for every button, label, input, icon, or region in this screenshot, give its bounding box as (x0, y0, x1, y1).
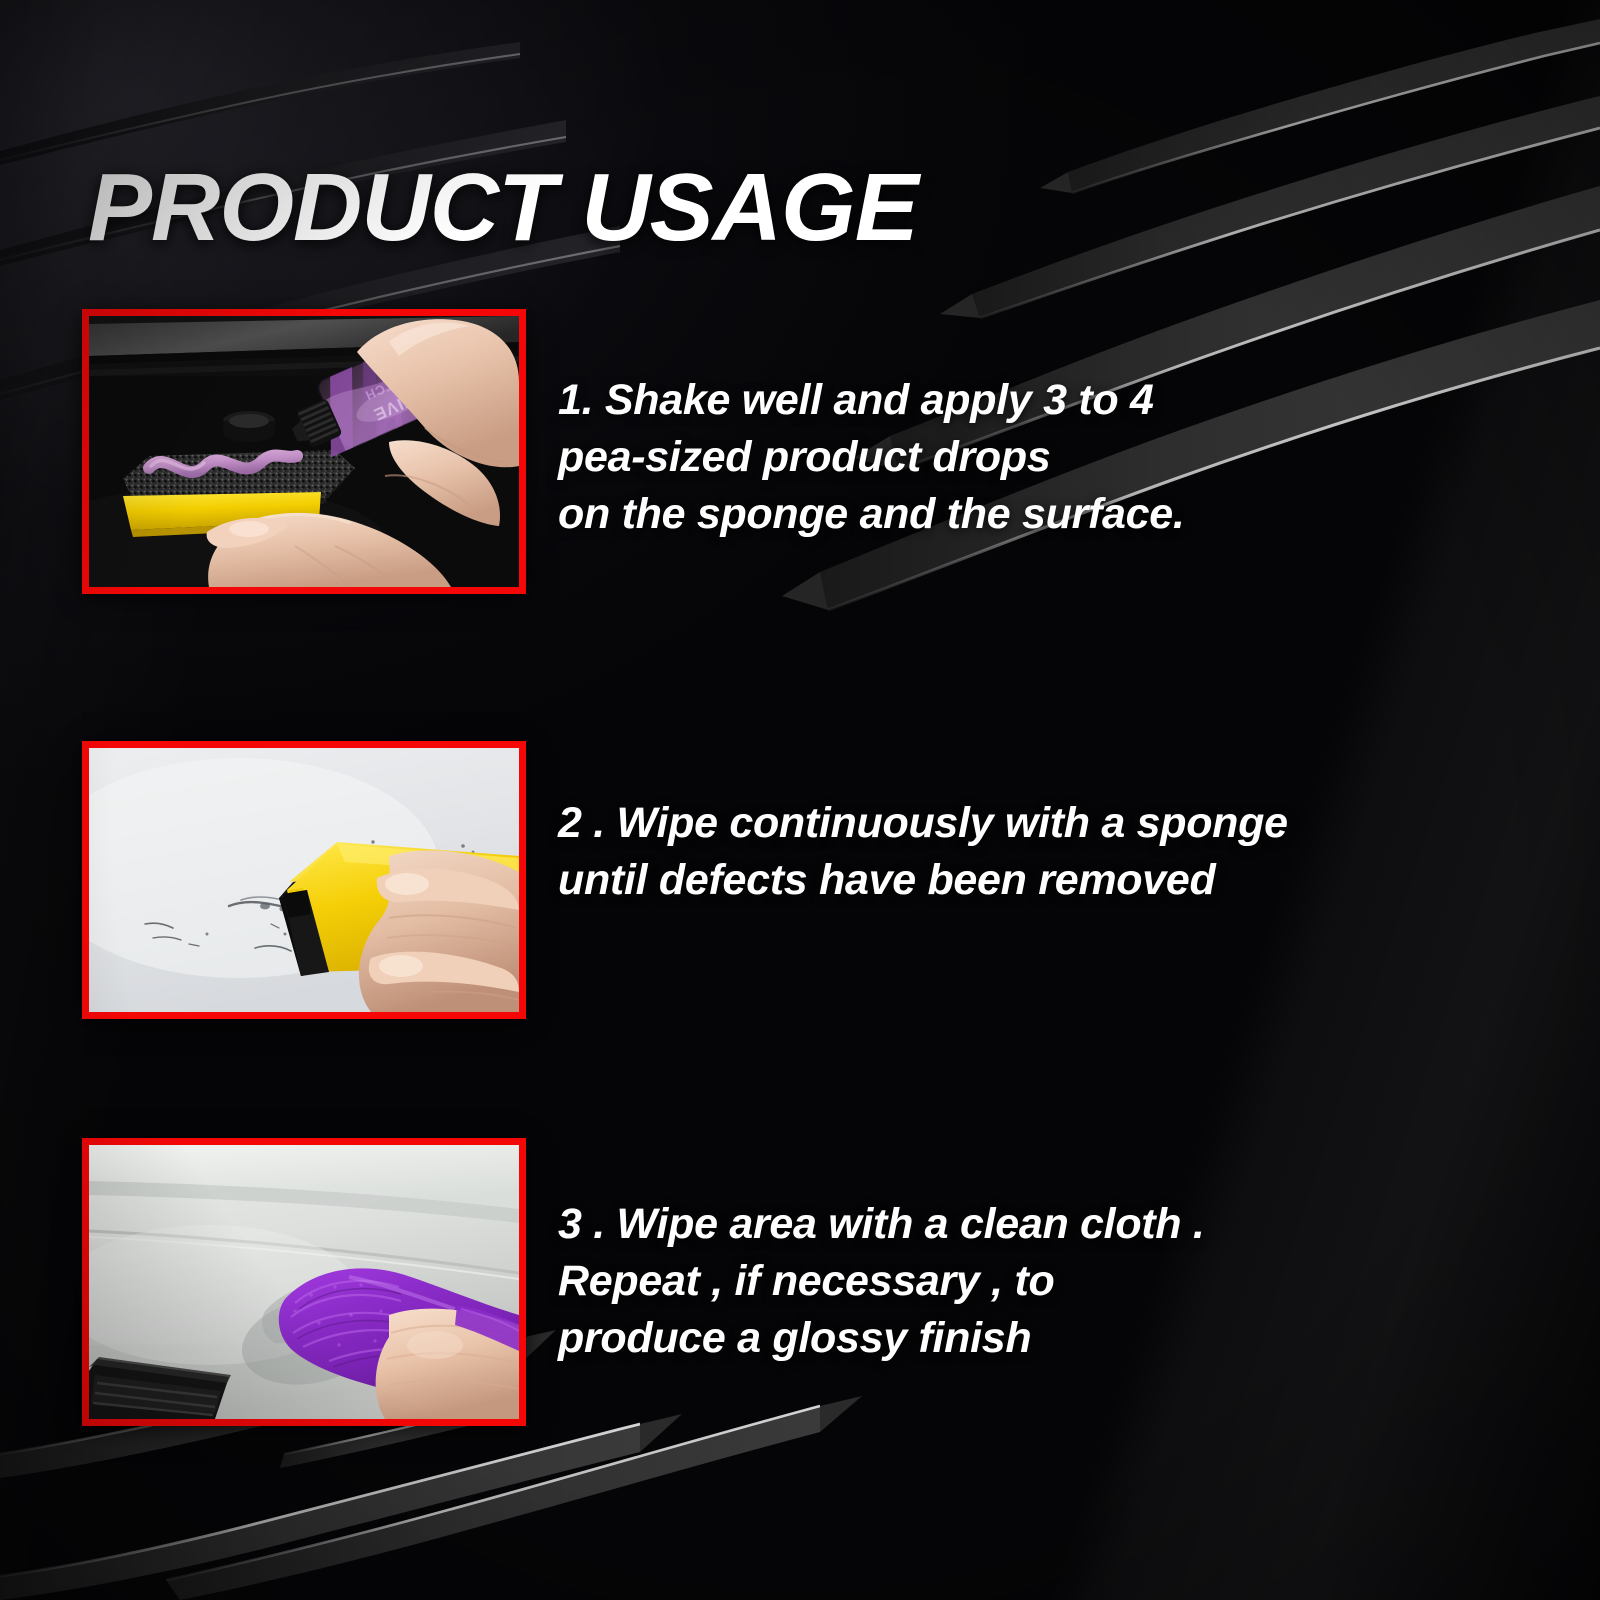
infographic-canvas: PRODUCT USAGE (0, 0, 1600, 1600)
background-vignette (0, 0, 1600, 1600)
